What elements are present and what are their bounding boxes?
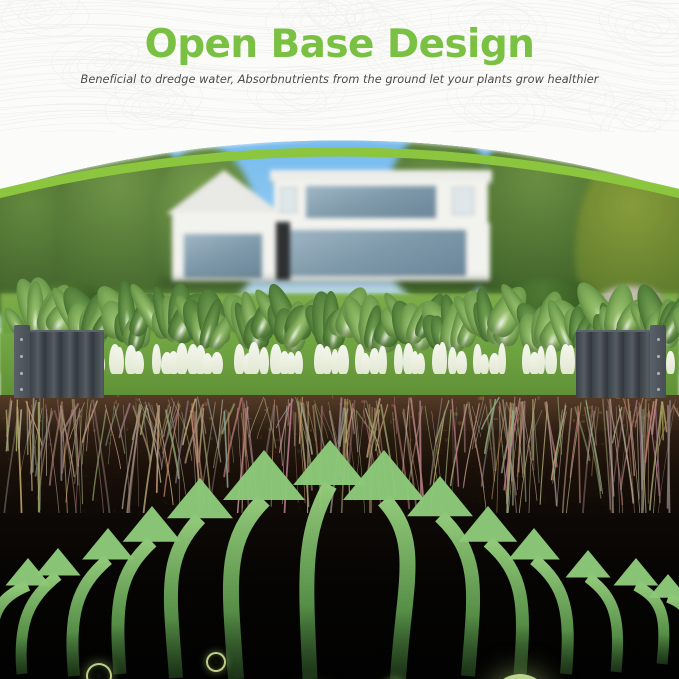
bed-right-bolt-3	[657, 372, 660, 375]
header: Open Base Design Beneficial to dredge wa…	[0, 0, 679, 132]
garden-bed-right	[576, 330, 666, 398]
page-subtitle: Beneficial to dredge water, Absorbnutrie…	[0, 73, 679, 86]
bok-choy-plant	[171, 282, 223, 378]
bed-left-bolt-2	[20, 355, 23, 358]
bok-choy-plant	[457, 282, 509, 378]
photo-depth-blur	[0, 118, 679, 293]
bok-choy-plant	[668, 282, 679, 378]
product-scene-photo: H2OKCAFeN	[0, 118, 679, 679]
bed-right-bolt-1	[657, 338, 660, 341]
bed-left-bolt-1	[20, 338, 23, 341]
bok-choy-stem	[115, 347, 124, 374]
page-title: Open Base Design	[0, 22, 679, 68]
bed-left-bolt-3	[20, 372, 23, 375]
bok-choy-stem	[394, 344, 403, 374]
nutrient-bubble-n: N	[489, 674, 551, 679]
bok-choy-stem	[438, 342, 446, 374]
bok-choy-stem	[152, 344, 161, 374]
infographic-canvas: H2OKCAFeN Open Base Design Beneficial to…	[0, 0, 679, 679]
garden-bed-left	[14, 330, 104, 398]
bed-right-bolt-4	[657, 388, 660, 391]
nutrient-ring	[206, 652, 226, 672]
bed-right-bolt-2	[657, 355, 660, 358]
bok-choy-leaf	[666, 303, 679, 347]
bed-left-bolt-4	[20, 388, 23, 391]
nutrient-bubbles-layer: H2OKCAFeN	[0, 398, 679, 679]
bed-left-corner-post	[14, 325, 30, 398]
bok-choy-stem	[566, 345, 574, 374]
nutrient-ring	[86, 663, 112, 679]
bok-choy-stem	[480, 354, 489, 374]
